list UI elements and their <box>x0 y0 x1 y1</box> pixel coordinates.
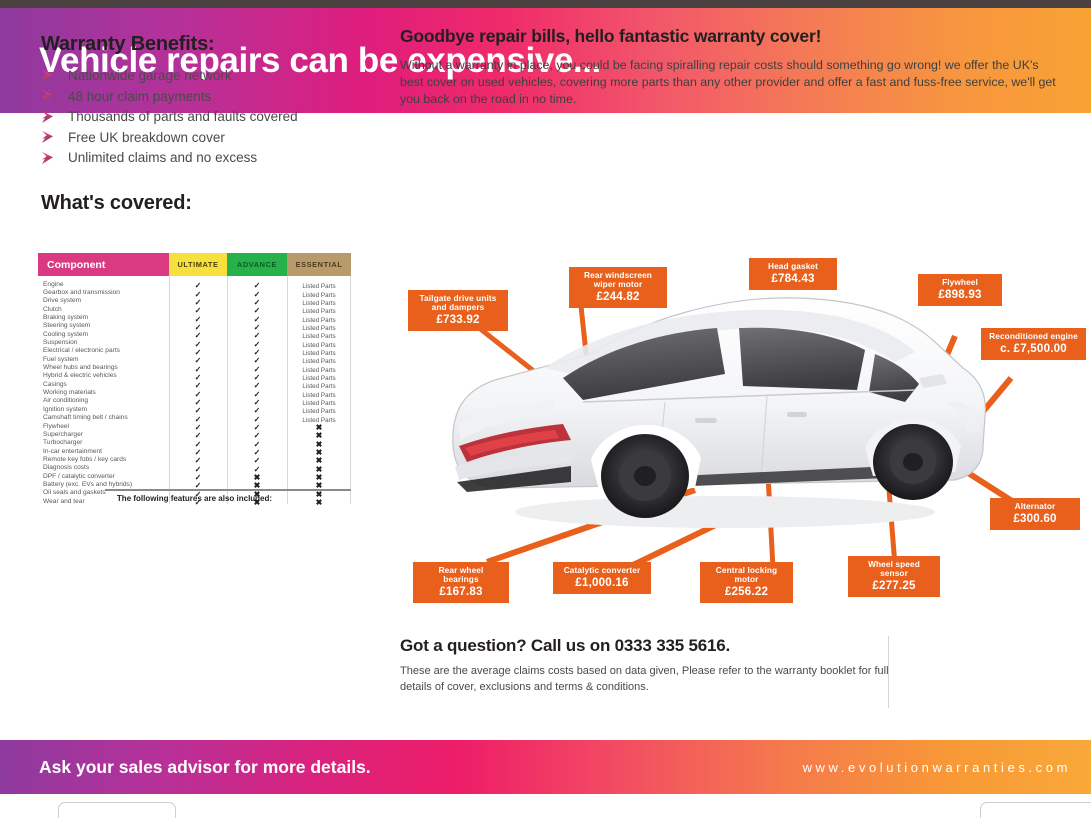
table-body: Engine✓✓Listed PartsGearbox and transmis… <box>38 276 351 504</box>
benefit-label: Thousands of parts and faults covered <box>68 109 298 124</box>
table-rule <box>350 276 351 504</box>
component-name: Casings <box>38 381 169 388</box>
intro-paragraph: Without a warranty in place, you could b… <box>400 57 1060 108</box>
callout-label: Wheel speed sensor <box>856 560 932 578</box>
callout-rear-wheel-bearings: Rear wheel bearings £167.83 <box>413 562 509 603</box>
callout-label: Flywheel <box>926 278 994 287</box>
benefit-item: Free UK breakdown cover <box>41 130 371 145</box>
coverage-table: Component ULTIMATE ADVANCE ESSENTIAL Eng… <box>38 253 351 814</box>
poster-page: Vehicle repairs can be expensive... Warr… <box>0 0 1091 818</box>
extras-heading: The following features are also included… <box>38 494 351 503</box>
column-header-ultimate: ULTIMATE <box>169 253 227 276</box>
page-footer: Ask your sales advisor for more details.… <box>0 740 1091 794</box>
benefit-label: Unlimited claims and no excess <box>68 150 257 165</box>
callout-value: c. £7,500.00 <box>989 343 1078 356</box>
component-name: Engine <box>38 281 169 288</box>
callout-label: Catalytic converter <box>561 566 643 575</box>
component-name: In-car entertainment <box>38 448 169 455</box>
callout-value: £256.22 <box>708 586 785 599</box>
callout-tailgate-drive-units: Tailgate drive units and dampers £733.92 <box>408 290 508 331</box>
callout-value: £1,000.16 <box>561 577 643 590</box>
callout-value: £733.92 <box>416 314 500 327</box>
covered-heading: What's covered: <box>41 192 371 215</box>
callout-rear-windscreen-wiper-motor: Rear windscreen wiper motor £244.82 <box>569 267 667 308</box>
component-name: Flywheel <box>38 423 169 430</box>
intro-section: Goodbye repair bills, hello fantastic wa… <box>400 26 1060 108</box>
benefit-label: Free UK breakdown cover <box>68 130 225 145</box>
callout-value: £277.25 <box>856 580 932 593</box>
benefits-heading: Warranty Benefits: <box>41 33 371 56</box>
component-name: Electrical / electronic parts <box>38 347 169 354</box>
component-name: Camshaft timing belt / chains <box>38 414 169 421</box>
callout-label: Head gasket <box>757 262 829 271</box>
callout-value: £784.43 <box>757 273 829 286</box>
callout-central-locking-motor: Central locking motor £256.22 <box>700 562 793 603</box>
callout-alternator: Alternator £300.60 <box>990 498 1080 530</box>
callout-wheel-speed-sensor: Wheel speed sensor £277.25 <box>848 556 940 597</box>
column-header-essential: ESSENTIAL <box>287 253 351 276</box>
component-name: Gearbox and transmission <box>38 289 169 296</box>
benefit-item: Nationwide garage network <box>41 68 371 83</box>
callout-value: £898.93 <box>926 289 994 302</box>
warranty-benefits-section: Warranty Benefits: Nationwide garage net… <box>41 33 371 215</box>
section-divider <box>105 489 351 491</box>
component-name: Suspension <box>38 339 169 346</box>
chevron-right-icon <box>41 110 57 124</box>
callout-value: £167.83 <box>421 586 501 599</box>
column-header-component: Component <box>38 253 169 276</box>
contact-section: Got a question? Call us on 0333 335 5616… <box>400 636 920 695</box>
callout-label: Reconditioned engine <box>989 332 1078 341</box>
callout-label: Rear wheel bearings <box>421 566 501 584</box>
callout-value: £244.82 <box>577 291 659 304</box>
callout-label: Tailgate drive units and dampers <box>416 294 500 312</box>
browser-tab-strip <box>0 794 1091 818</box>
benefits-list: Nationwide garage network48 hour claim p… <box>41 68 371 165</box>
column-header-advance: ADVANCE <box>227 253 287 276</box>
callout-reconditioned-engine: Reconditioned engine c. £7,500.00 <box>981 328 1086 360</box>
footer-website-url[interactable]: www.evolutionwarranties.com <box>803 760 1091 775</box>
benefit-item: 48 hour claim payments <box>41 89 371 104</box>
component-name: Working materials <box>38 389 169 396</box>
intro-heading: Goodbye repair bills, hello fantastic wa… <box>400 26 1060 47</box>
benefit-item: Thousands of parts and faults covered <box>41 109 371 124</box>
contact-heading: Got a question? Call us on 0333 335 5616… <box>400 636 920 656</box>
chevron-right-icon <box>41 89 57 103</box>
callout-catalytic-converter: Catalytic converter £1,000.16 <box>553 562 651 594</box>
callout-head-gasket: Head gasket £784.43 <box>749 258 837 290</box>
benefit-item: Unlimited claims and no excess <box>41 150 371 165</box>
component-name: Wheel hubs and bearings <box>38 364 169 371</box>
table-rule <box>287 276 288 504</box>
component-name: Ignition system <box>38 406 169 413</box>
component-name: Braking system <box>38 314 169 321</box>
component-name: Fuel system <box>38 356 169 363</box>
component-name: Hybrid & electric vehicles <box>38 372 169 379</box>
callout-label: Alternator <box>998 502 1072 511</box>
table-header-row: Component ULTIMATE ADVANCE ESSENTIAL <box>38 253 351 276</box>
callout-label: Rear windscreen wiper motor <box>577 271 659 289</box>
contact-disclaimer: These are the average claims costs based… <box>400 664 920 695</box>
footer-cta: Ask your sales advisor for more details. <box>0 757 371 778</box>
component-name: Steering system <box>38 322 169 329</box>
browser-tab[interactable] <box>980 802 1091 818</box>
chevron-right-icon <box>41 69 57 83</box>
component-name: DPF / catalytic converter <box>38 473 169 480</box>
component-name: Diagnosis costs <box>38 464 169 471</box>
component-name: Clutch <box>38 306 169 313</box>
component-name: Supercharger <box>38 431 169 438</box>
benefit-label: 48 hour claim payments <box>68 89 211 104</box>
component-name: Remote key fobs / key cards <box>38 456 169 463</box>
contact-divider <box>888 636 889 708</box>
callout-flywheel: Flywheel £898.93 <box>918 274 1002 306</box>
component-name: Turbocharger <box>38 439 169 446</box>
callout-value: £300.60 <box>998 513 1072 526</box>
table-rule <box>169 276 170 504</box>
chevron-right-icon <box>41 151 57 165</box>
chevron-right-icon <box>41 130 57 144</box>
table-rule <box>227 276 228 504</box>
benefit-label: Nationwide garage network <box>68 68 232 83</box>
component-name: Drive system <box>38 297 169 304</box>
component-name: Battery (exc. EVs and hybrids) <box>38 481 169 488</box>
component-name: Air conditioning <box>38 397 169 404</box>
callout-label: Central locking motor <box>708 566 785 584</box>
component-name: Cooling system <box>38 331 169 338</box>
browser-tab[interactable] <box>58 802 176 818</box>
car-illustration <box>453 298 986 528</box>
vehicle-diagram: Tailgate drive units and dampers £733.92… <box>395 250 1091 630</box>
